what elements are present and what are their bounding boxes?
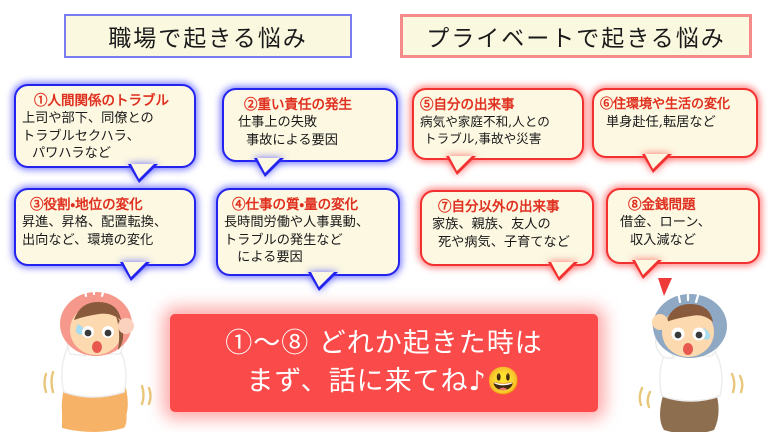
bubble-8[interactable]: ⑧金銭問題 借金、ローン、 収入減など — [606, 188, 760, 264]
bubble-8-tail-inner — [635, 260, 658, 275]
section-header-work-label: 職場で起きる悩み — [108, 19, 308, 53]
bubble-7-tail-inner — [551, 262, 574, 277]
bubble-3-line-2: 出向など、環境の変化 — [22, 232, 188, 250]
bubble-7-line-1: 家族、親族、友人の — [428, 216, 586, 234]
bubble-5[interactable]: ⑤自分の出来事 病気や家庭不和,人との トラブル,事故や災害 — [412, 88, 584, 160]
bubble-7-title: ⑦自分以外の出来事 — [428, 199, 586, 216]
bubble-1-line-3: パワハラなど — [22, 145, 188, 163]
infographic-canvas: 職場で起きる悩み プライベートで起きる悩み ①人間関係のトラブル 上司や部下、同… — [0, 0, 768, 432]
bubble-7[interactable]: ⑦自分以外の出来事 家族、親族、友人の 死や病気、子育てなど — [420, 190, 594, 266]
bubble-2-line-1: 仕事上の失敗 — [230, 114, 390, 132]
bubble-4-title: ④仕事の質・量の変化 — [224, 197, 392, 214]
bubble-2-line-2: 事故による要因 — [230, 132, 390, 150]
bubble-5-line-2: トラブル,事故や災害 — [420, 131, 576, 148]
bubble-2-title: ②重い責任の発生 — [230, 97, 390, 114]
section-header-work: 職場で起きる悩み — [64, 14, 352, 58]
bubble-1-line-2: トラブルセクハラ、 — [22, 128, 188, 146]
bubble-2-tail-inner — [257, 158, 280, 173]
bubble-3-title: ③役割・地位の変化 — [22, 197, 188, 214]
bubble-1-title: ①人間関係のトラブル — [22, 93, 188, 110]
bubble-3-line-1: 昇進、昇格、配置転換、 — [22, 214, 188, 232]
bubble-1-line-1: 上司や部下、同僚との — [22, 110, 188, 128]
banner-line-1: ①〜⑧ どれか起きた時は — [225, 325, 543, 363]
bubble-3-tail-inner — [123, 262, 146, 277]
bubble-4[interactable]: ④仕事の質・量の変化 長時間労働や人事異動、 トラブルの発生など による要因 — [216, 188, 400, 276]
bubble-5-tail-inner — [449, 156, 472, 171]
bubble-1-tail-inner — [131, 164, 154, 179]
bubble-6[interactable]: ⑥住環境や生活の変化 単身赴任,転居など — [592, 88, 758, 158]
section-header-private: プライベートで起きる悩み — [400, 14, 752, 58]
bubble-8-line-2: 収入減など — [614, 232, 752, 250]
bubble-7-line-2: 死や病気、子育てなど — [428, 234, 586, 252]
bubble-6-line-1: 単身赴任,転居など — [600, 114, 750, 132]
bubble-5-title: ⑤自分の出来事 — [420, 97, 576, 114]
section-header-private-label: プライベートで起きる悩み — [426, 19, 726, 53]
bubble-4-line-2: トラブルの発生など — [224, 232, 392, 250]
bubble-1[interactable]: ①人間関係のトラブル 上司や部下、同僚との トラブルセクハラ、 パワハラなど — [14, 84, 196, 168]
bubble-2[interactable]: ②重い責任の発生 仕事上の失敗 事故による要因 — [222, 88, 398, 162]
bubble-4-line-1: 長時間労働や人事異動、 — [224, 214, 392, 232]
bubble-4-tail-inner — [311, 272, 334, 287]
worried-man-illustration — [624, 276, 754, 432]
worried-woman-illustration — [34, 276, 158, 432]
bubble-3[interactable]: ③役割・地位の変化 昇進、昇格、配置転換、 出向など、環境の変化 — [14, 188, 196, 266]
bubble-6-title: ⑥住環境や生活の変化 — [600, 97, 750, 114]
bubble-4-line-3: による要因 — [224, 249, 392, 267]
call-to-action-banner: ①〜⑧ どれか起きた時は まず、話に来てね♪😃 — [170, 314, 598, 412]
bubble-6-tail-inner — [645, 154, 668, 169]
bubble-5-line-1: 病気や家庭不和,人との — [420, 114, 576, 131]
bubble-8-title: ⑧金銭問題 — [614, 197, 752, 214]
banner-line-2: まず、話に来てね♪😃 — [247, 363, 522, 401]
bubble-8-line-1: 借金、ローン、 — [614, 214, 752, 232]
